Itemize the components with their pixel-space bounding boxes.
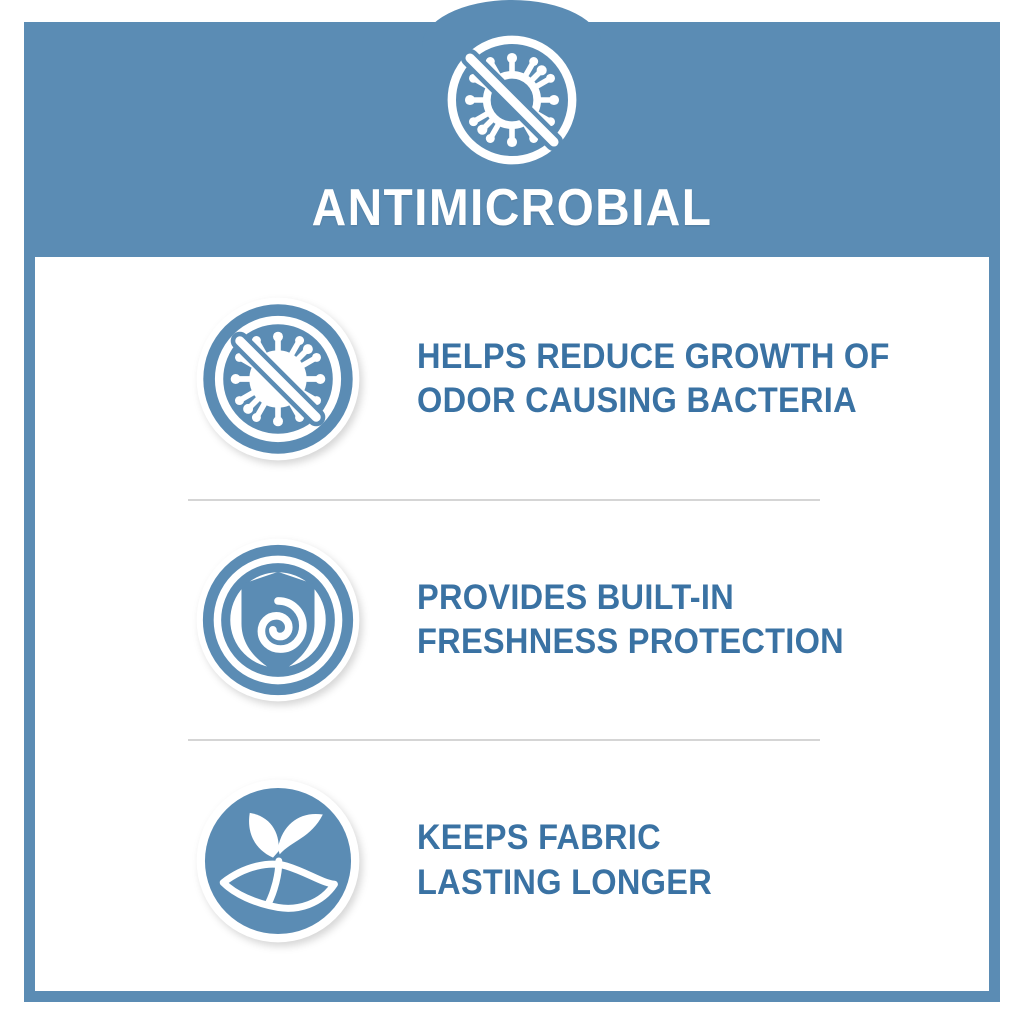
no-germ-icon [442,30,582,170]
divider-1 [188,499,820,501]
no-germ-icon [195,296,361,462]
feature-line-1: HELPS REDUCE GROWTH OF [417,335,890,379]
feature-text-fabric: KEEPS FABRIC LASTING LONGER [417,816,712,905]
content-panel: HELPS REDUCE GROWTH OF ODOR CAUSING BACT… [35,257,989,991]
feature-text-bacteria: HELPS REDUCE GROWTH OF ODOR CAUSING BACT… [417,335,890,424]
feature-line-1: PROVIDES BUILT-IN [417,576,844,620]
feature-row-bacteria: HELPS REDUCE GROWTH OF ODOR CAUSING BACT… [35,274,989,484]
feature-line-2: LASTING LONGER [417,861,712,905]
leaf-fabric-icon [195,778,361,944]
feature-text-freshness: PROVIDES BUILT-IN FRESHNESS PROTECTION [417,576,844,665]
shield-swirl-icon [195,537,361,703]
feature-line-1: KEEPS FABRIC [417,816,712,860]
divider-2 [188,739,820,741]
feature-row-freshness: PROVIDES BUILT-IN FRESHNESS PROTECTION [35,515,989,725]
feature-row-fabric: KEEPS FABRIC LASTING LONGER [35,756,989,966]
header-band: ANTIMICROBIAL [24,22,1000,257]
feature-line-2: FRESHNESS PROTECTION [417,620,844,664]
feature-list: HELPS REDUCE GROWTH OF ODOR CAUSING BACT… [35,257,989,991]
feature-line-2: ODOR CAUSING BACTERIA [417,379,890,423]
antimicrobial-infographic: ANTIMICROBIAL [0,0,1024,1024]
page-title: ANTIMICROBIAL [63,182,961,234]
